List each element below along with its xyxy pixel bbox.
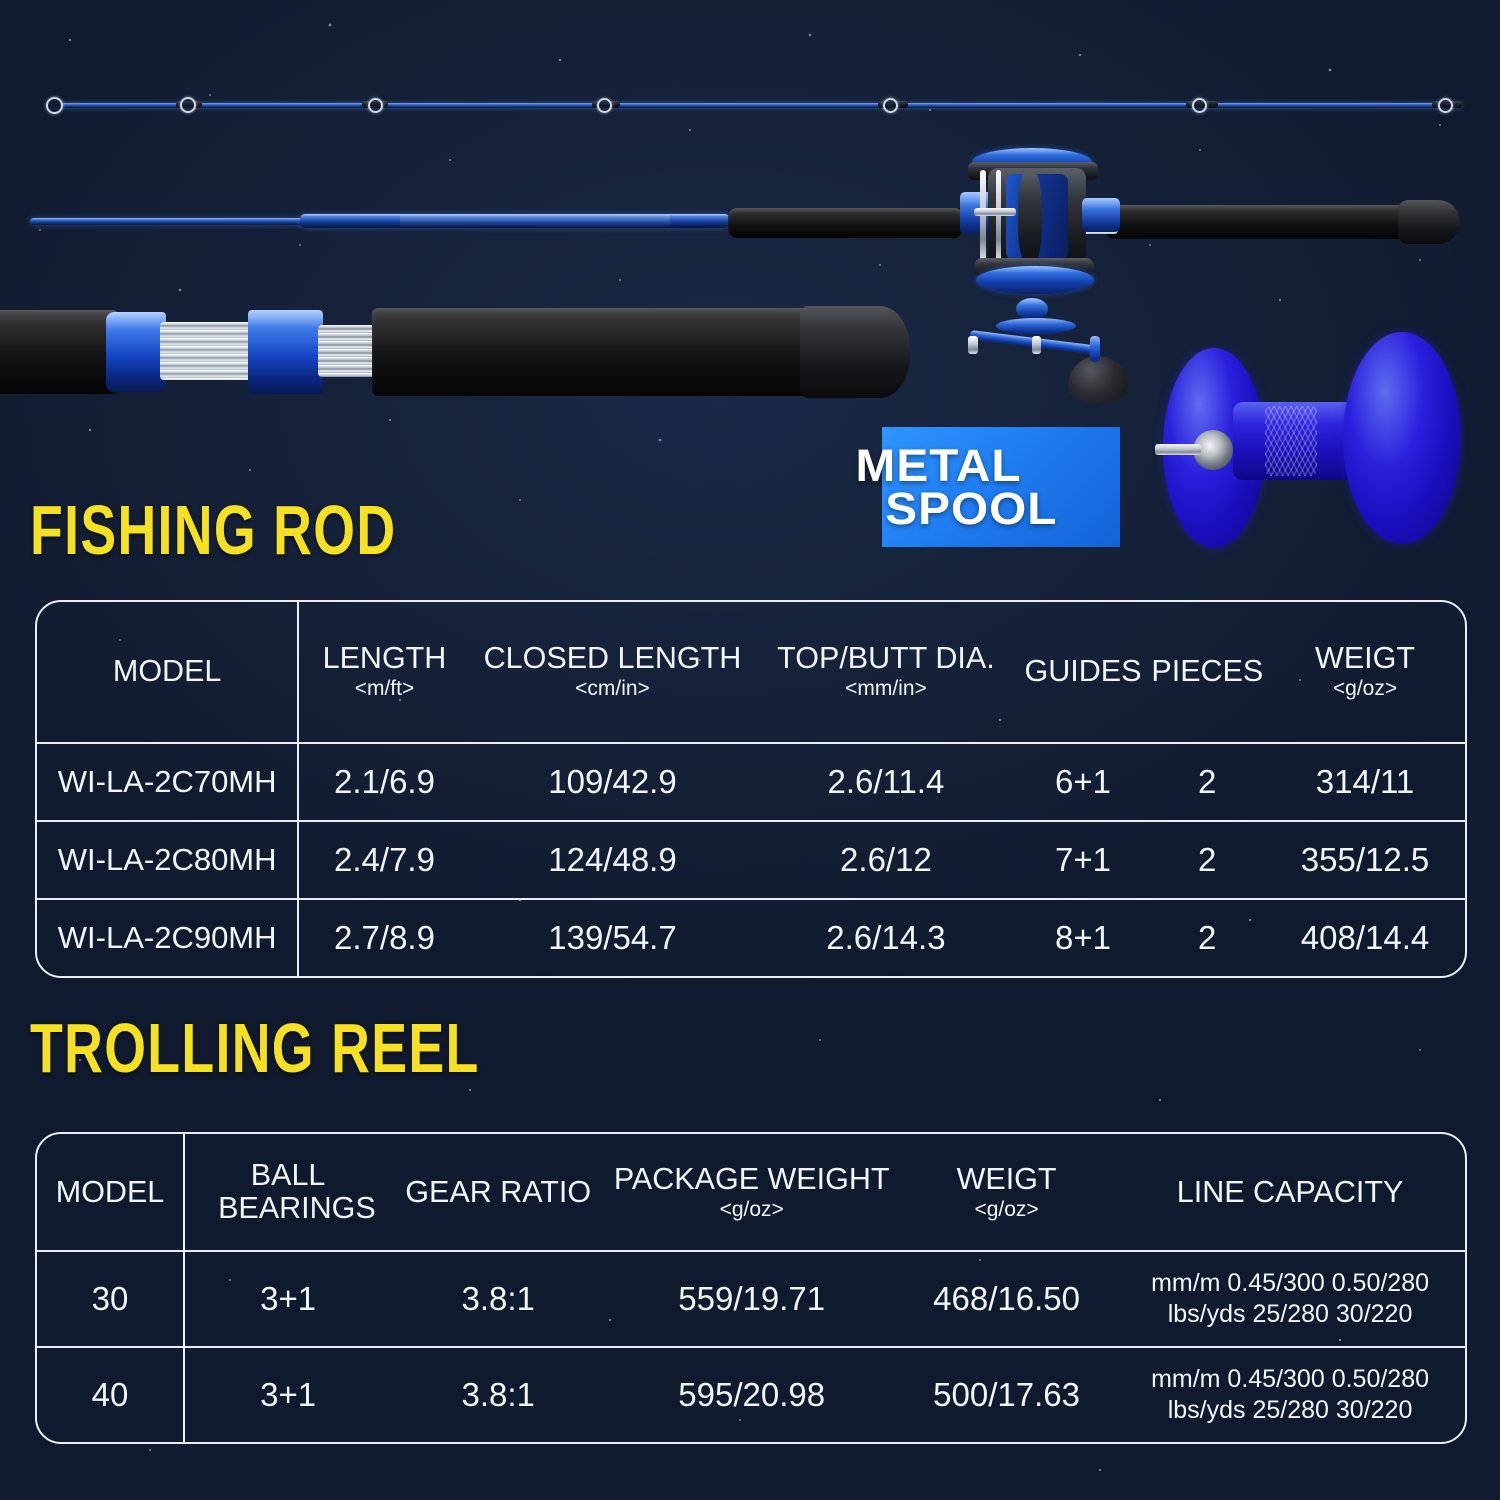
header-package-weight: PACKAGE WEIGHT <g/oz> xyxy=(605,1134,898,1251)
table-row: WI-LA-2C90MH 2.7/8.9 139/54.7 2.6/14.3 8… xyxy=(37,899,1465,976)
cell-line-capacity: mm/m 0.45/300 0.50/280 lbs/yds 25/280 30… xyxy=(1115,1251,1465,1347)
rod-butt-cap xyxy=(1398,200,1460,244)
header-model: MODEL xyxy=(37,602,298,743)
cell-package-weight: 595/20.98 xyxy=(605,1347,898,1442)
badge-line-1: METAL xyxy=(847,444,1128,487)
fishing-rod-spec-table: MODEL LENGTH <m/ft> CLOSED LENGTH <cm/in… xyxy=(35,600,1467,978)
trolling-reel-spec-table: MODEL BALL BEARINGS GEAR RATIO PACKAGE W… xyxy=(35,1132,1467,1444)
cell-pieces: 2 xyxy=(1149,821,1265,899)
rod-guide-icon xyxy=(368,98,383,113)
rod-guide-icon xyxy=(46,97,63,114)
header-model: MODEL xyxy=(37,1134,184,1251)
cell-line-capacity: mm/m 0.45/300 0.50/280 lbs/yds 25/280 30… xyxy=(1115,1347,1465,1442)
cell-gear-ratio: 3.8:1 xyxy=(391,1251,605,1347)
cell-guides: 6+1 xyxy=(1017,743,1150,821)
header-weight: WEIGT <g/oz> xyxy=(1265,602,1465,743)
cell-dia: 2.6/14.3 xyxy=(755,899,1016,976)
cell-model: 40 xyxy=(37,1347,184,1442)
header-weight: WEIGT <g/oz> xyxy=(898,1134,1115,1251)
header-top-butt-dia: TOP/BUTT DIA. <mm/in> xyxy=(755,602,1016,743)
section-title-fishing-rod: FISHING ROD xyxy=(30,490,396,570)
cell-length: 2.7/8.9 xyxy=(298,899,469,976)
table-row: 30 3+1 3.8:1 559/19.71 468/16.50 mm/m 0.… xyxy=(37,1251,1465,1347)
spool-knurled-grip xyxy=(1265,406,1317,476)
cell-closed-length: 109/42.9 xyxy=(470,743,756,821)
table-row: 40 3+1 3.8:1 595/20.98 500/17.63 mm/m 0.… xyxy=(37,1347,1465,1442)
rod-guide-icon xyxy=(597,98,612,113)
table-row: WI-LA-2C80MH 2.4/7.9 124/48.9 2.6/12 7+1… xyxy=(37,821,1465,899)
cell-closed-length: 124/48.9 xyxy=(470,821,756,899)
cell-weight: 408/14.4 xyxy=(1265,899,1465,976)
rod-guide-icon xyxy=(1438,98,1453,113)
rod-blank-imprint xyxy=(400,215,670,226)
header-guides: GUIDES xyxy=(1017,602,1150,743)
cell-gear-ratio: 3.8:1 xyxy=(391,1347,605,1442)
header-ball-bearings: BALL BEARINGS xyxy=(184,1134,391,1251)
section-title-trolling-reel: TROLLING REEL xyxy=(30,1008,480,1088)
cell-ball-bearings: 3+1 xyxy=(184,1251,391,1347)
cell-length: 2.1/6.9 xyxy=(298,743,469,821)
cell-dia: 2.6/11.4 xyxy=(755,743,1016,821)
cell-weight: 314/11 xyxy=(1265,743,1465,821)
metal-spool xyxy=(1155,330,1480,565)
header-pieces: PIECES xyxy=(1149,602,1265,743)
capacity-line-2: lbs/yds 25/280 30/220 xyxy=(1115,1299,1465,1330)
table-row: WI-LA-2C70MH 2.1/6.9 109/42.9 2.6/11.4 6… xyxy=(37,743,1465,821)
cell-pieces: 2 xyxy=(1149,899,1265,976)
cell-package-weight: 559/19.71 xyxy=(605,1251,898,1347)
cell-closed-length: 139/54.7 xyxy=(470,899,756,976)
metal-spool-badge: METAL SPOOL xyxy=(855,427,1120,547)
header-line-capacity: LINE CAPACITY xyxy=(1115,1134,1465,1251)
badge-line-2: SPOOL xyxy=(847,487,1128,530)
badge-text: METAL SPOOL xyxy=(847,427,1128,547)
cell-length: 2.4/7.9 xyxy=(298,821,469,899)
capacity-line-2: lbs/yds 25/280 30/220 xyxy=(1115,1395,1465,1426)
rod-butt-cap-large xyxy=(800,306,910,398)
cell-weight: 500/17.63 xyxy=(898,1347,1115,1442)
cell-pieces: 2 xyxy=(1149,743,1265,821)
reel-handle-knob xyxy=(1068,356,1128,404)
table-header-row: MODEL LENGTH <m/ft> CLOSED LENGTH <cm/in… xyxy=(37,602,1465,743)
rod-guide-icon xyxy=(883,98,898,113)
rod-guide-icon xyxy=(1192,98,1207,113)
cell-weight: 355/12.5 xyxy=(1265,821,1465,899)
header-gear-ratio: GEAR RATIO xyxy=(391,1134,605,1251)
cell-weight: 468/16.50 xyxy=(898,1251,1115,1347)
table-header-row: MODEL BALL BEARINGS GEAR RATIO PACKAGE W… xyxy=(37,1134,1465,1251)
rod-guide-icon xyxy=(180,97,196,113)
capacity-line-1: mm/m 0.45/300 0.50/280 xyxy=(1115,1364,1465,1395)
cell-guides: 7+1 xyxy=(1017,821,1150,899)
header-closed-length: CLOSED LENGTH <cm/in> xyxy=(470,602,756,743)
cell-model: 30 xyxy=(37,1251,184,1347)
cell-model: WI-LA-2C70MH xyxy=(37,743,298,821)
cell-ball-bearings: 3+1 xyxy=(184,1347,391,1442)
header-length: LENGTH <m/ft> xyxy=(298,602,469,743)
cell-guides: 8+1 xyxy=(1017,899,1150,976)
cell-model: WI-LA-2C80MH xyxy=(37,821,298,899)
cell-dia: 2.6/12 xyxy=(755,821,1016,899)
cell-model: WI-LA-2C90MH xyxy=(37,899,298,976)
capacity-line-1: mm/m 0.45/300 0.50/280 xyxy=(1115,1268,1465,1299)
